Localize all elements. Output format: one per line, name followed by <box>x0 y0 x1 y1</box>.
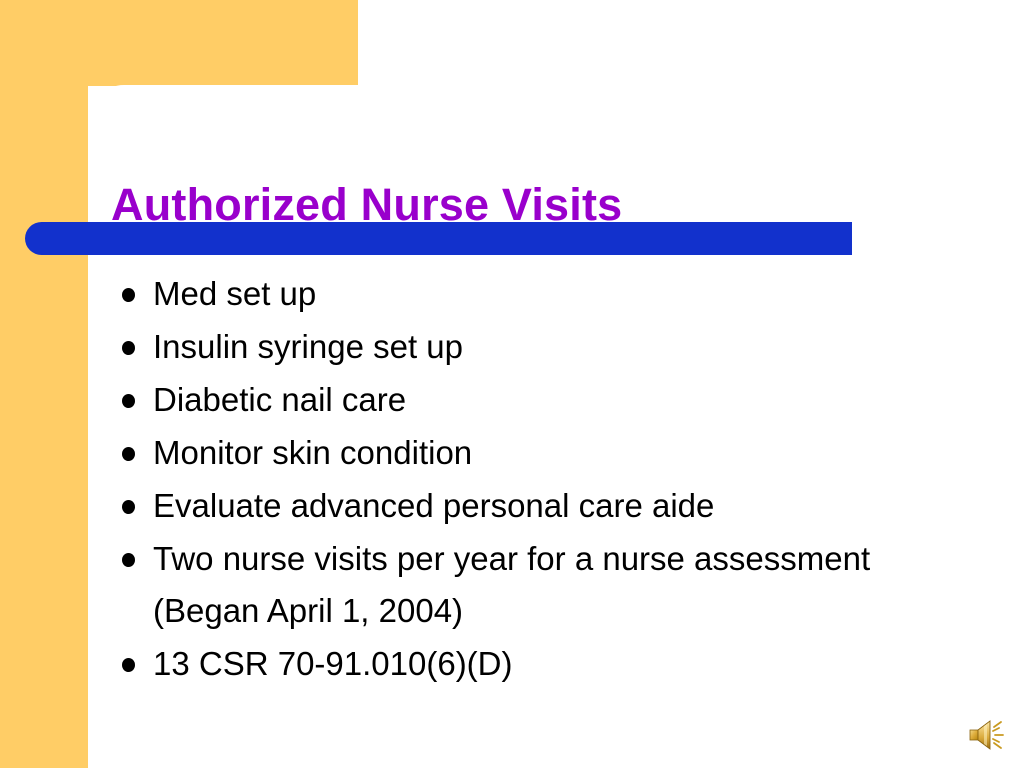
speaker-icon[interactable] <box>962 714 1010 756</box>
bullet-dot-icon <box>122 447 135 461</box>
bullet-item: Diabetic nail care <box>113 374 903 426</box>
yellow-corner-block <box>0 0 358 86</box>
bullet-dot-icon <box>122 500 135 514</box>
bullet-item-label: Diabetic nail care <box>153 374 903 426</box>
bullet-item: Med set up <box>113 268 903 320</box>
bullet-dot-icon <box>122 658 135 672</box>
bullet-list: Med set up Insulin syringe set up Diabet… <box>113 268 903 691</box>
bullet-item: 13 CSR 70-91.010(6)(D) <box>113 638 903 690</box>
bullet-dot-icon <box>122 288 135 302</box>
bullet-item: Evaluate advanced personal care aide <box>113 480 903 532</box>
presentation-slide: Authorized Nurse Visits Med set up Insul… <box>0 0 1024 768</box>
bullet-item-label: Med set up <box>153 268 903 320</box>
bullet-item: Two nurse visits per year for a nurse as… <box>113 533 903 637</box>
bullet-item: Insulin syringe set up <box>113 321 903 373</box>
bullet-item-label: 13 CSR 70-91.010(6)(D) <box>153 638 903 690</box>
slide-title: Authorized Nurse Visits <box>111 182 911 227</box>
bullet-item-label: Insulin syringe set up <box>153 321 903 373</box>
bullet-dot-icon <box>122 341 135 355</box>
bullet-item-label: Monitor skin condition <box>153 427 903 479</box>
yellow-side-band <box>0 0 88 768</box>
bullet-item-label: Evaluate advanced personal care aide <box>153 480 903 532</box>
bullet-dot-icon <box>122 553 135 567</box>
bullet-item: Monitor skin condition <box>113 427 903 479</box>
bullet-dot-icon <box>122 394 135 408</box>
bullet-item-label: Two nurse visits per year for a nurse as… <box>153 533 903 637</box>
